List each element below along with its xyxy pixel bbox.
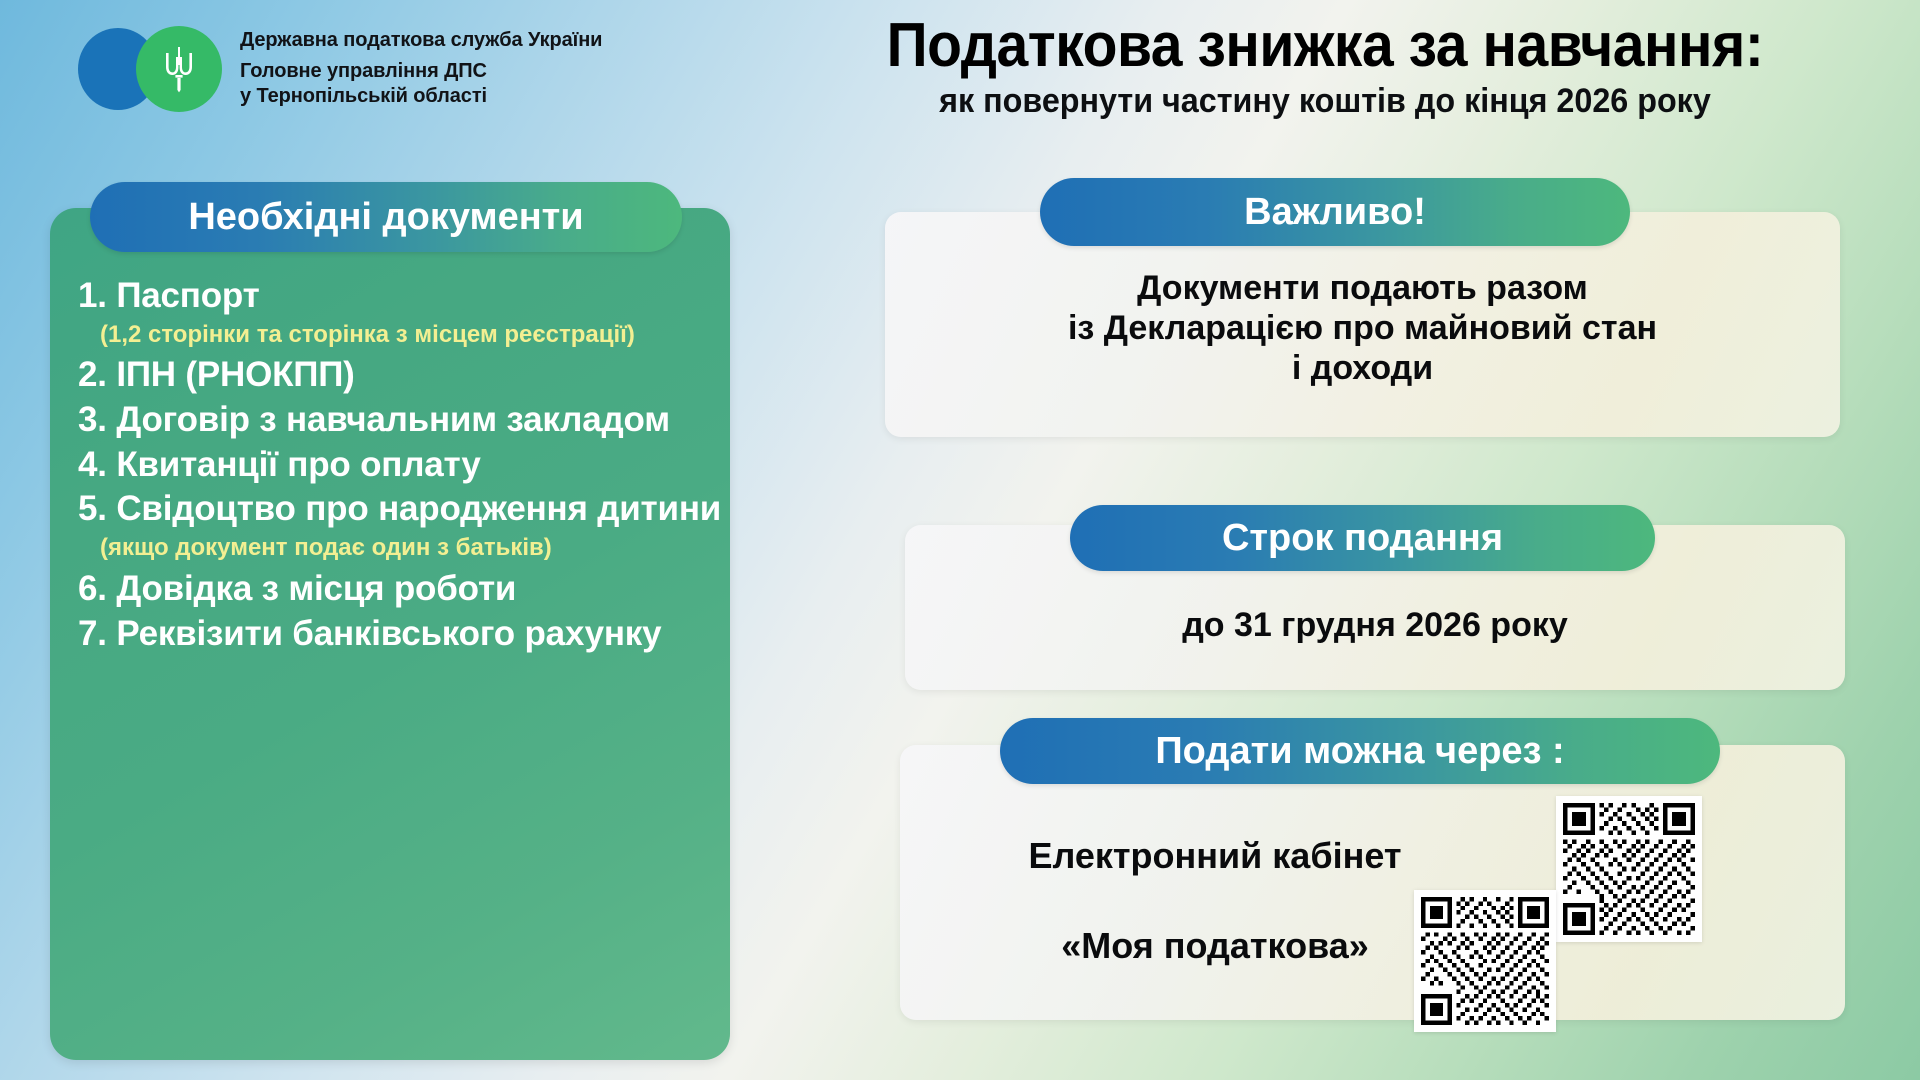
- deadline-card-body: до 31 грудня 2026 року: [905, 605, 1845, 645]
- submit-channel-heading: Подати можна через :: [1000, 718, 1720, 784]
- list-item: 4. Квитанції про оплату: [78, 444, 738, 487]
- important-card-body: Документи подають разом із Декларацією п…: [885, 268, 1840, 388]
- qr-code-svg-top: [1563, 803, 1695, 935]
- page-title: Податкова знижка за навчання:: [805, 14, 1845, 77]
- important-card-heading: Важливо!: [1040, 178, 1630, 246]
- required-documents-heading: Необхідні документи: [90, 182, 682, 252]
- trident-icon: [162, 45, 196, 93]
- required-documents-list: 1. Паспорт (1,2 сторінки та сторінка з м…: [78, 275, 738, 657]
- logo-marks: [78, 22, 226, 114]
- list-item-note: (1,2 сторінки та сторінка з місцем реєст…: [78, 320, 738, 351]
- list-item: 5. Свідоцтво про народження дитини: [78, 488, 738, 531]
- qr-code-svg-bottom: [1421, 897, 1549, 1025]
- page-subtitle: як повернути частину коштів до кінця 202…: [788, 83, 1862, 120]
- org-line-1: Державна податкова служба України: [240, 28, 602, 52]
- green-circle-trident-icon: [136, 26, 222, 112]
- list-item: 7. Реквізити банківського рахунку: [78, 613, 738, 656]
- list-item-note: (якщо документ подає один з батьків): [78, 533, 738, 564]
- submit-channel-line-1: Електронний кабінет: [905, 835, 1525, 877]
- submit-channel-card: [900, 745, 1845, 1020]
- infographic-poster: Державна податкова служба України Головн…: [0, 0, 1920, 1080]
- organisation-logo-block: Державна податкова служба України Головн…: [78, 22, 602, 114]
- poster-title-block: Податкова знижка за навчання: як поверну…: [760, 14, 1890, 121]
- org-line-2: Головне управління ДПС: [240, 59, 602, 83]
- organisation-name: Державна податкова служба України Головн…: [240, 28, 602, 108]
- list-item: 6. Довідка з місця роботи: [78, 568, 738, 611]
- qr-code-icon-bottom[interactable]: [1414, 890, 1556, 1032]
- list-item: 2. ІПН (РНОКПП): [78, 354, 738, 397]
- list-item: 1. Паспорт: [78, 275, 738, 318]
- deadline-card-heading: Строк подання: [1070, 505, 1655, 571]
- list-item: 3. Договір з навчальним закладом: [78, 399, 738, 442]
- org-line-3: у Тернопільській області: [240, 84, 602, 108]
- qr-code-icon-top[interactable]: [1556, 796, 1702, 942]
